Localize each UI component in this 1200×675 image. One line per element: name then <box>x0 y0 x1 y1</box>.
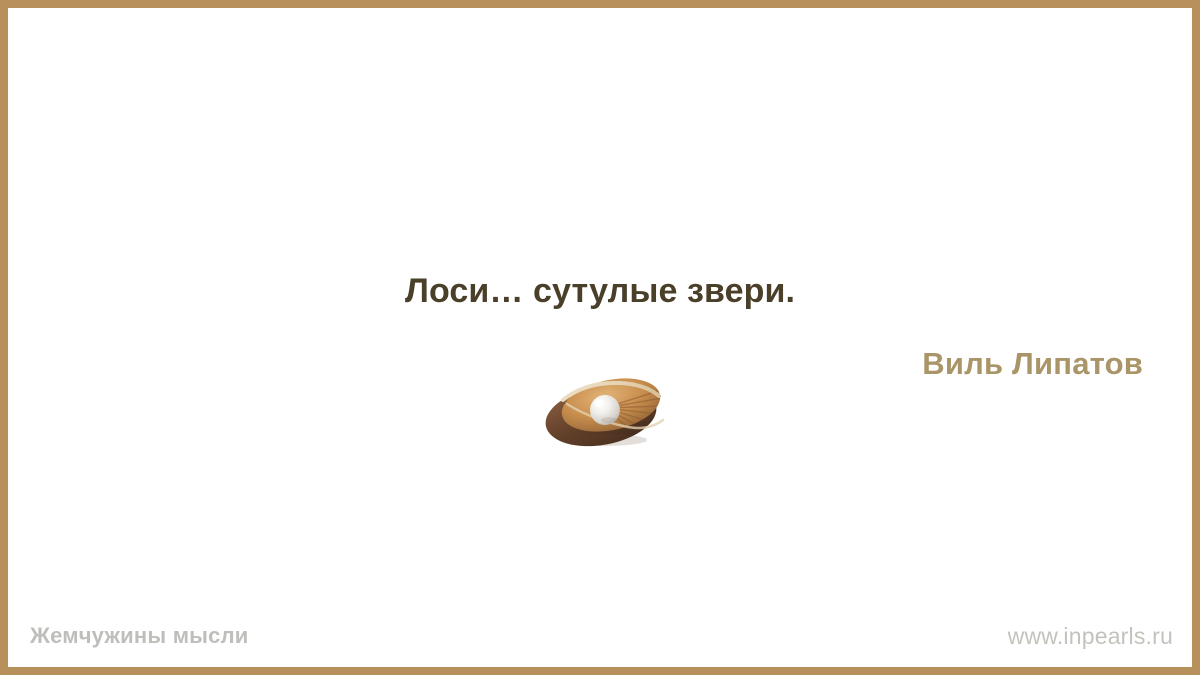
site-url-label[interactable]: www.inpearls.ru <box>1008 623 1173 650</box>
quote-author: Виль Липатов <box>922 346 1143 382</box>
site-name-label: Жемчужины мысли <box>30 623 249 649</box>
quote-card: Лоси… сутулые звери. Виль Липатов <box>0 0 1200 675</box>
seashell-with-pearl-icon <box>541 374 671 448</box>
quote-text: Лоси… сутулые звери. <box>8 270 1192 313</box>
